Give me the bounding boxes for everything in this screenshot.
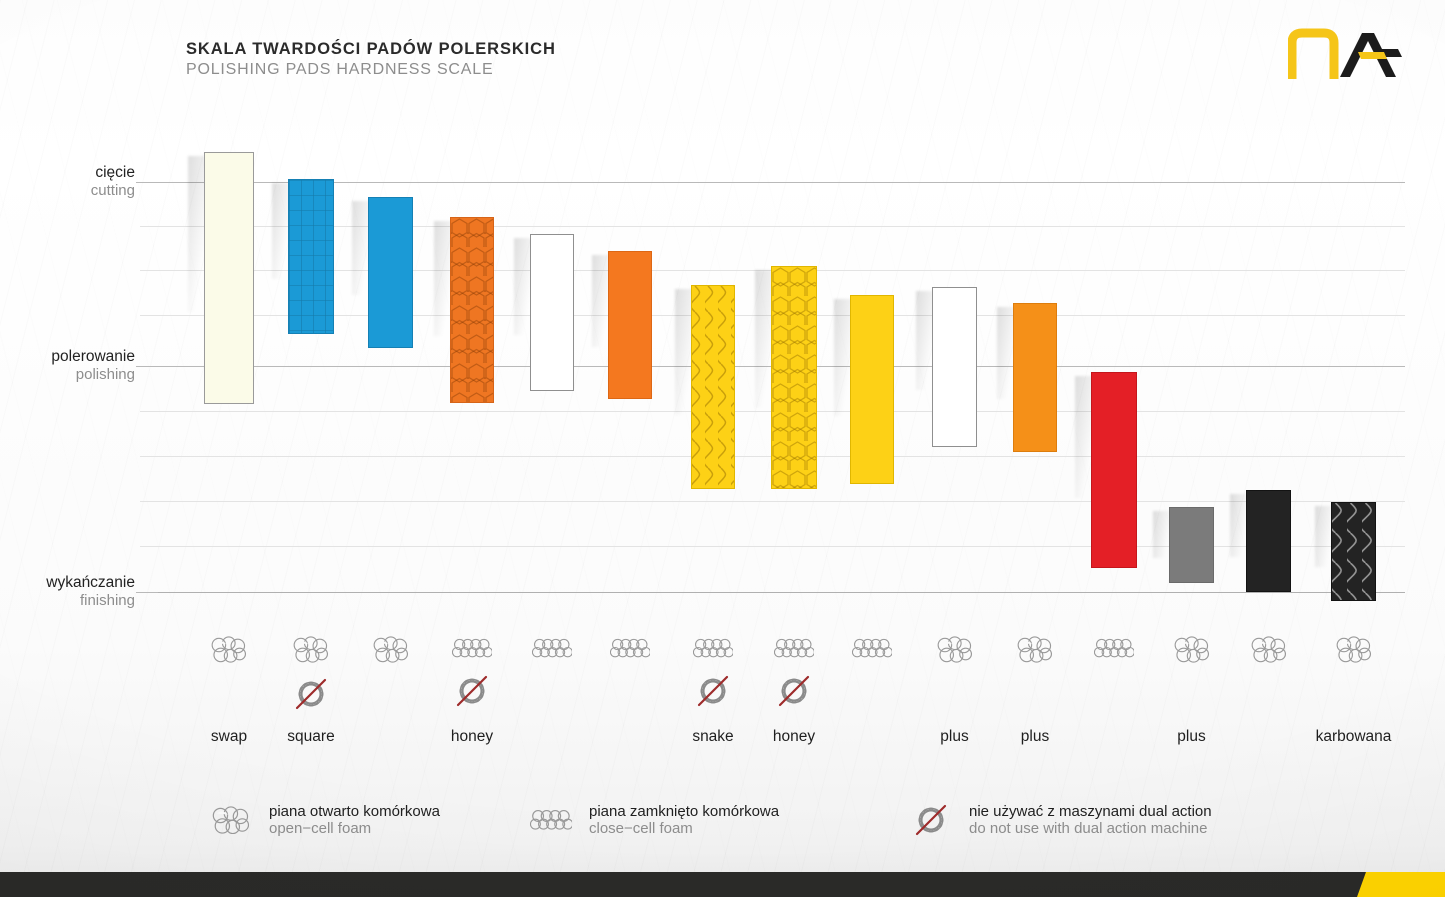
legend-label-english: open−cell foam	[269, 820, 440, 837]
bar-honey[interactable]	[771, 266, 817, 489]
y-axis-label-finishing: wykańczaniefinishing	[0, 574, 135, 609]
y-label-english: polishing	[0, 366, 135, 383]
legend-label-polish: piana zamknięto komórkowa	[589, 803, 779, 820]
legend: piana otwarto komórkowaopen−cell foampia…	[0, 795, 1445, 855]
y-label-polish: cięcie	[0, 164, 135, 182]
bar-plus[interactable]	[1013, 303, 1057, 452]
bar-square[interactable]	[288, 179, 334, 334]
legend-label-english: close−cell foam	[589, 820, 779, 837]
legend-item-2: piana zamknięto komórkowaclose−cell foam	[525, 803, 779, 837]
legend-label-polish: piana otwarto komórkowa	[269, 803, 440, 820]
y-label-polish: wykańczanie	[0, 574, 135, 592]
y-label-polish: polerowanie	[0, 348, 135, 366]
page-title: SKALA TWARDOŚCI PADÓW POLERSKICH POLISHI…	[186, 40, 556, 79]
y-label-english: finishing	[0, 592, 135, 609]
footer-dark-band	[0, 872, 1445, 897]
bar-col-9[interactable]	[850, 295, 894, 484]
bar-swap[interactable]	[204, 152, 254, 404]
y-axis-tick	[136, 182, 158, 183]
column-label-square: square	[241, 728, 381, 746]
bar-plus[interactable]	[932, 287, 977, 447]
y-axis-label-polishing: polerowaniepolishing	[0, 348, 135, 383]
column-label-plus: plus	[965, 728, 1105, 746]
legend-item-1: piana otwarto komórkowaopen−cell foam	[205, 803, 440, 837]
infographic-canvas: SKALA TWARDOŚCI PADÓW POLERSKICH POLISHI…	[0, 0, 1445, 897]
column-label-plus: plus	[1122, 728, 1262, 746]
bar-karbowana[interactable]	[1331, 502, 1376, 601]
bar-col-5[interactable]	[530, 234, 574, 391]
bar-plus[interactable]	[1169, 507, 1214, 583]
open-cell-foam-icon	[1294, 636, 1414, 663]
y-axis-tick	[136, 592, 158, 593]
bar-col-6[interactable]	[608, 251, 652, 399]
legend-label-english: do not use with dual action machine	[969, 820, 1212, 837]
no-dual-action-icon	[412, 674, 532, 708]
bar-snake[interactable]	[691, 285, 735, 489]
legend-text: nie używać z maszynami dual actiondo not…	[969, 803, 1212, 837]
column-label-honey: honey	[402, 728, 542, 746]
title-english: POLISHING PADS HARDNESS SCALE	[186, 61, 556, 79]
no-dual-action-icon	[251, 677, 371, 711]
bar-col-12[interactable]	[1091, 372, 1137, 568]
no-dual-action-icon	[905, 803, 957, 837]
y-axis-tick	[136, 366, 158, 367]
open-cell-foam-icon	[205, 806, 257, 835]
bar-col-14[interactable]	[1246, 490, 1291, 592]
y-label-english: cutting	[0, 182, 135, 199]
column-label-honey: honey	[724, 728, 864, 746]
legend-label-polish: nie używać z maszynami dual action	[969, 803, 1212, 820]
title-polish: SKALA TWARDOŚCI PADÓW POLERSKICH	[186, 40, 556, 59]
no-dual-action-icon	[734, 674, 854, 708]
y-axis-label-cutting: cięciecutting	[0, 164, 135, 199]
gridline-minor	[140, 501, 1405, 502]
bar-col-3[interactable]	[368, 197, 413, 348]
close-cell-foam-icon	[525, 807, 577, 832]
gridline-major	[140, 592, 1405, 593]
gridline-minor	[140, 546, 1405, 547]
column-label-karbowana: karbowana	[1284, 728, 1424, 746]
legend-item-3: nie używać z maszynami dual actiondo not…	[905, 803, 1212, 837]
bar-honey[interactable]	[450, 217, 494, 403]
legend-text: piana zamknięto komórkowaclose−cell foam	[589, 803, 779, 837]
nac-logo	[1288, 27, 1408, 79]
column-cell-15	[1294, 636, 1414, 663]
legend-text: piana otwarto komórkowaopen−cell foam	[269, 803, 440, 837]
chart-plot-area	[140, 140, 1405, 605]
footer-yellow-accent	[1357, 872, 1445, 897]
